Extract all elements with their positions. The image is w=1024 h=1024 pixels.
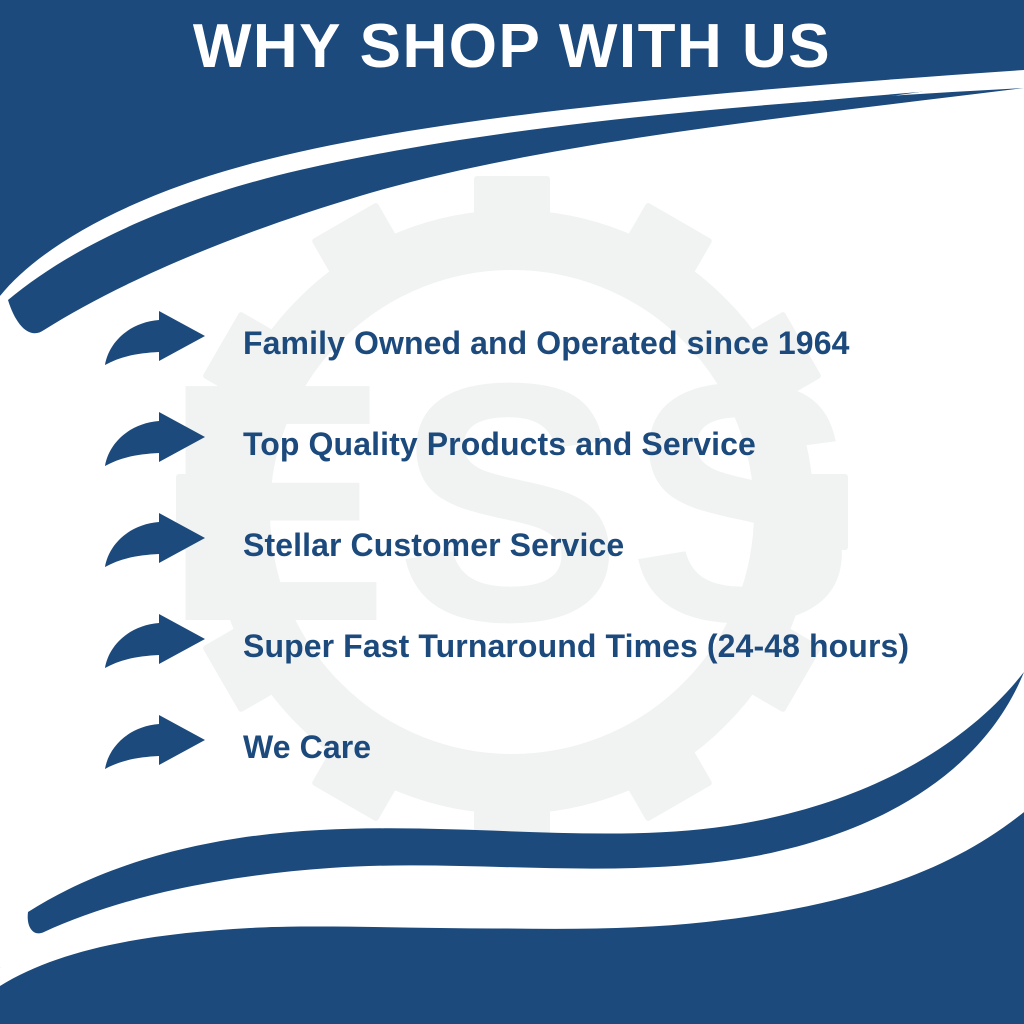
- list-item-label: Top Quality Products and Service: [243, 425, 985, 463]
- list-item-label: Stellar Customer Service: [243, 526, 985, 564]
- footer-blue-shape: [0, 812, 1024, 1024]
- list-item: Stellar Customer Service: [105, 494, 985, 595]
- curved-arrow-right-icon: [105, 715, 205, 775]
- list-item-label: Family Owned and Operated since 1964: [243, 324, 985, 362]
- curved-arrow-right-icon: [105, 614, 205, 674]
- list-item-label: Super Fast Turnaround Times (24-48 hours…: [243, 627, 985, 665]
- list-item: Top Quality Products and Service: [105, 393, 985, 494]
- curved-arrow-right-icon: [105, 412, 205, 472]
- why-shop-with-us-poster: ESS WHY SHOP WITH US Family Owned: [0, 0, 1024, 1024]
- list-item: We Care: [105, 696, 985, 797]
- benefits-list: Family Owned and Operated since 1964 Top…: [105, 292, 985, 797]
- list-item: Family Owned and Operated since 1964: [105, 292, 985, 393]
- list-item: Super Fast Turnaround Times (24-48 hours…: [105, 595, 985, 696]
- page-title: WHY SHOP WITH US: [0, 12, 1024, 82]
- curved-arrow-right-icon: [105, 513, 205, 573]
- header-white-swoosh-line: [0, 70, 1024, 319]
- curved-arrow-right-icon: [105, 311, 205, 371]
- list-item-label: We Care: [243, 728, 985, 766]
